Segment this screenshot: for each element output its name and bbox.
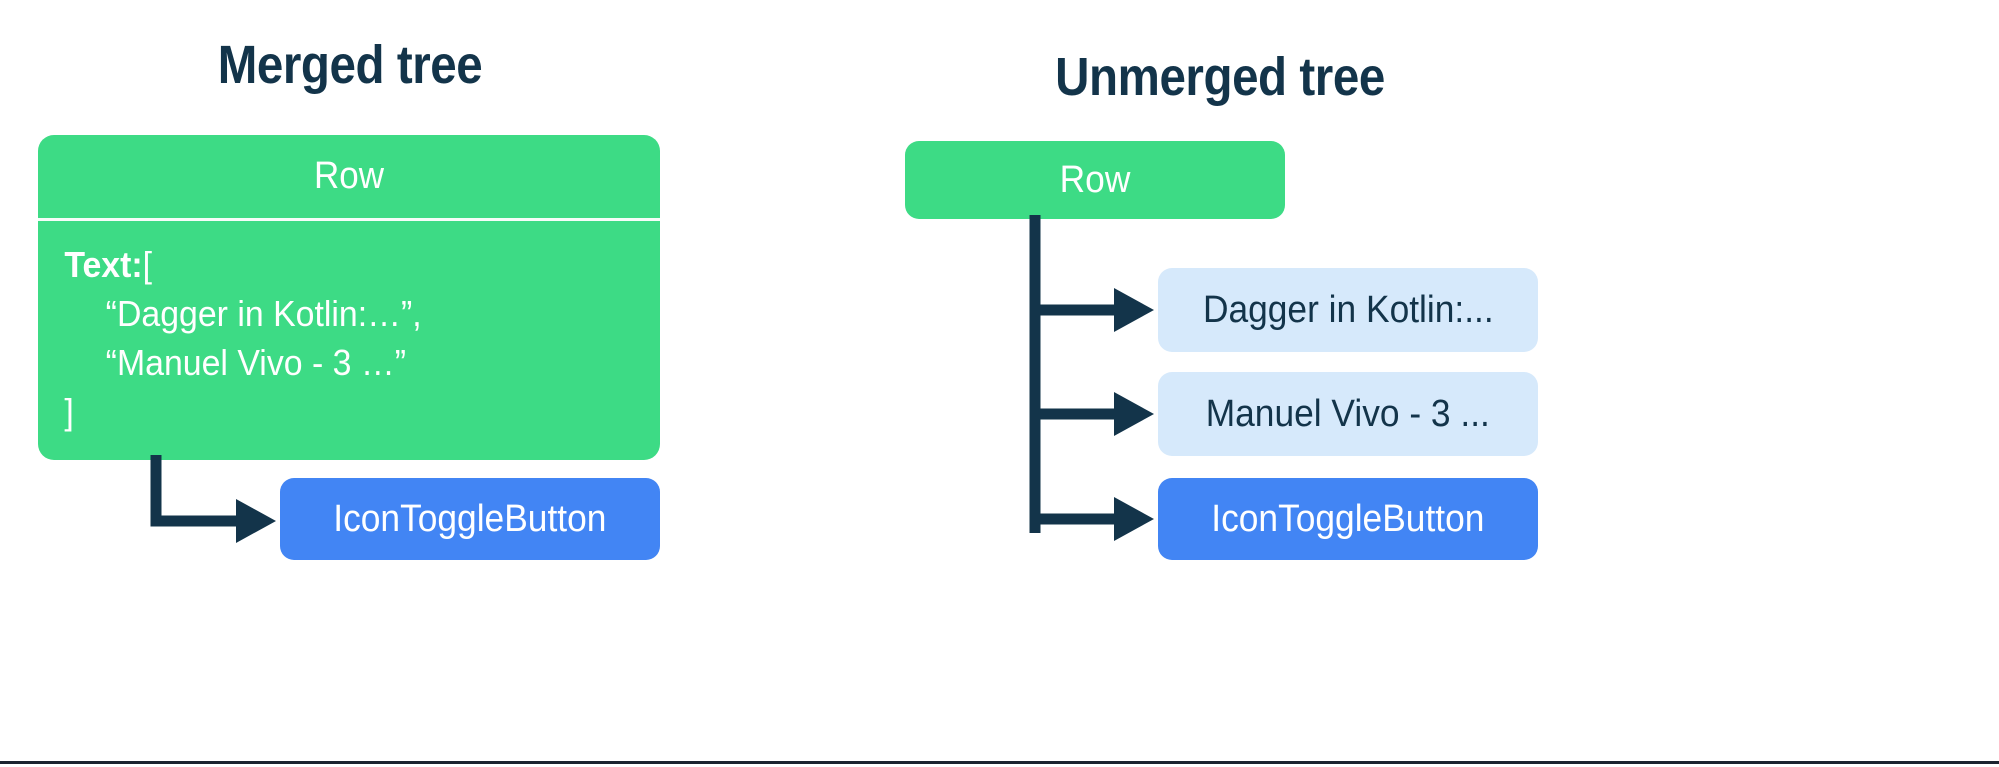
- unmerged-text-node-1: Manuel Vivo - 3 ...: [1158, 372, 1538, 456]
- merged-text-bracket-close-line: ]: [64, 388, 622, 437]
- merged-text-value-1: “Manuel Vivo - 3 …”: [64, 339, 622, 388]
- merged-tree-title: Merged tree: [42, 34, 658, 96]
- merged-text-value-1-label: “Manuel Vivo - 3 …”: [106, 342, 406, 383]
- merged-row-label: Row: [63, 135, 635, 218]
- unmerged-row-label: Row: [1060, 159, 1131, 202]
- unmerged-icon-toggle-button-node: IconToggleButton: [1158, 478, 1538, 560]
- merged-text-key: Text:: [64, 244, 142, 285]
- merged-text-value-0-label: “Dagger in Kotlin:…”,: [106, 293, 422, 334]
- merged-icon-toggle-button-node: IconToggleButton: [280, 478, 660, 560]
- unmerged-text-node-0-label: Dagger in Kotlin:...: [1203, 289, 1494, 332]
- unmerged-text-node-1-label: Manuel Vivo - 3 ...: [1206, 393, 1490, 436]
- merged-text-bracket-close: ]: [64, 391, 73, 432]
- merged-tree-elbow-arrow-icon: [150, 455, 300, 565]
- unmerged-tree-title: Unmerged tree: [903, 46, 1537, 108]
- merged-text-value-0: “Dagger in Kotlin:…”,: [64, 290, 622, 339]
- unmerged-text-node-0: Dagger in Kotlin:...: [1158, 268, 1538, 352]
- bottom-divider: [0, 761, 1999, 764]
- merged-text-key-line: Text:[: [64, 241, 622, 290]
- diagram-canvas: Merged tree Row Text:[ “Dagger in Kotlin…: [0, 0, 1999, 767]
- unmerged-icon-toggle-button-label: IconToggleButton: [1211, 498, 1484, 541]
- merged-text-property: Text:[ “Dagger in Kotlin:…”, “Manuel Viv…: [38, 221, 623, 437]
- merged-icon-toggle-button-label: IconToggleButton: [333, 498, 606, 541]
- merged-text-bracket-open: [: [143, 244, 152, 285]
- unmerged-row-node: Row: [905, 141, 1285, 219]
- merged-row-node: Row Text:[ “Dagger in Kotlin:…”, “Manuel…: [38, 135, 660, 460]
